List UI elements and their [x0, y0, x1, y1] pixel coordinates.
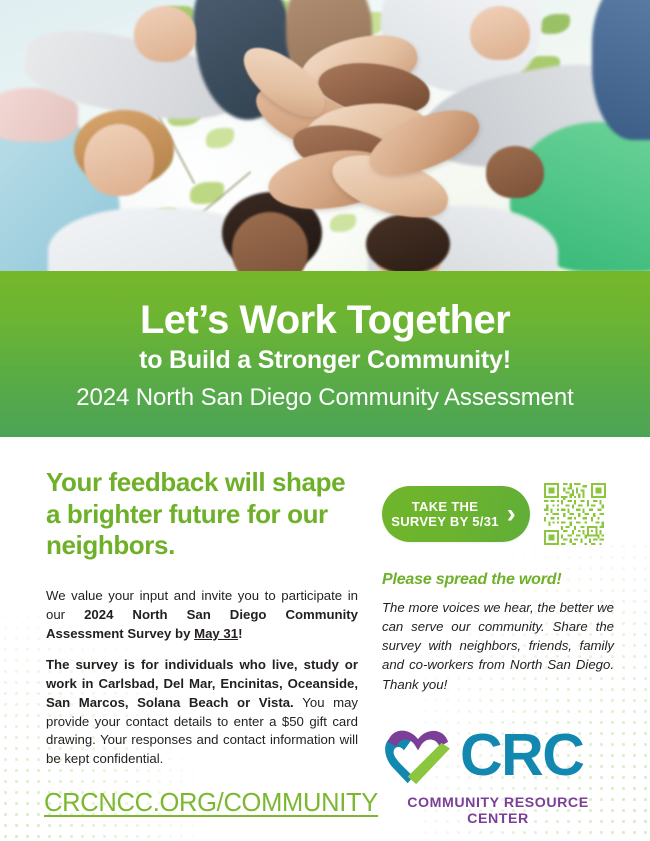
qr-code-icon[interactable]: [544, 483, 606, 545]
flyer-page: Let’s Work Together to Build a Stronger …: [0, 0, 650, 841]
photo-hair-bottom-right: [366, 214, 450, 271]
paragraph-invite-tail: !: [238, 626, 242, 641]
left-column: Your feedback will shape a brighter futu…: [46, 467, 358, 769]
headline-banner: Let’s Work Together to Build a Stronger …: [0, 271, 650, 437]
spread-the-word-title: Please spread the word!: [382, 571, 622, 589]
paragraph-eligibility: The survey is for individuals who live, …: [46, 656, 358, 768]
right-column: TAKE THE SURVEY BY 5/31 ›: [382, 483, 622, 694]
crc-logo: CRC COMMUNITY RESOURCE CENTER: [382, 725, 616, 827]
photo-face-top: [134, 6, 196, 62]
banner-subtitle: to Build a Stronger Community!: [0, 341, 650, 375]
hero-photo: [0, 0, 650, 271]
content-area: Your feedback will shape a brighter futu…: [0, 437, 650, 841]
banner-tagline: 2024 North San Diego Community Assessmen…: [0, 375, 650, 412]
photo-face-top-right: [470, 6, 530, 60]
banner-title: Let’s Work Together: [0, 271, 650, 341]
cta-line-1: TAKE THE: [412, 499, 478, 514]
paragraph-invite-deadline: May 31: [194, 626, 238, 641]
survey-url-link[interactable]: CRCNCC.ORG/COMMUNITY: [44, 789, 378, 818]
logo-row: CRC: [382, 725, 616, 787]
logo-tagline: COMMUNITY RESOURCE CENTER: [382, 795, 614, 827]
feedback-headline: Your feedback will shape a brighter futu…: [46, 467, 358, 562]
cta-row: TAKE THE SURVEY BY 5/31 ›: [382, 483, 622, 545]
paragraph-invite: We value your input and invite you to pa…: [46, 587, 358, 643]
photo-face-left: [84, 124, 154, 196]
cta-line-2: SURVEY BY 5/31: [391, 514, 499, 529]
spread-the-word-body: The more voices we hear, the better we c…: [382, 598, 614, 694]
logo-letters: CRC: [460, 729, 583, 782]
heart-logo-icon: [382, 725, 454, 787]
chevron-right-icon: ›: [507, 501, 516, 528]
photo-face-right: [486, 146, 544, 198]
take-survey-button[interactable]: TAKE THE SURVEY BY 5/31 ›: [382, 486, 530, 542]
